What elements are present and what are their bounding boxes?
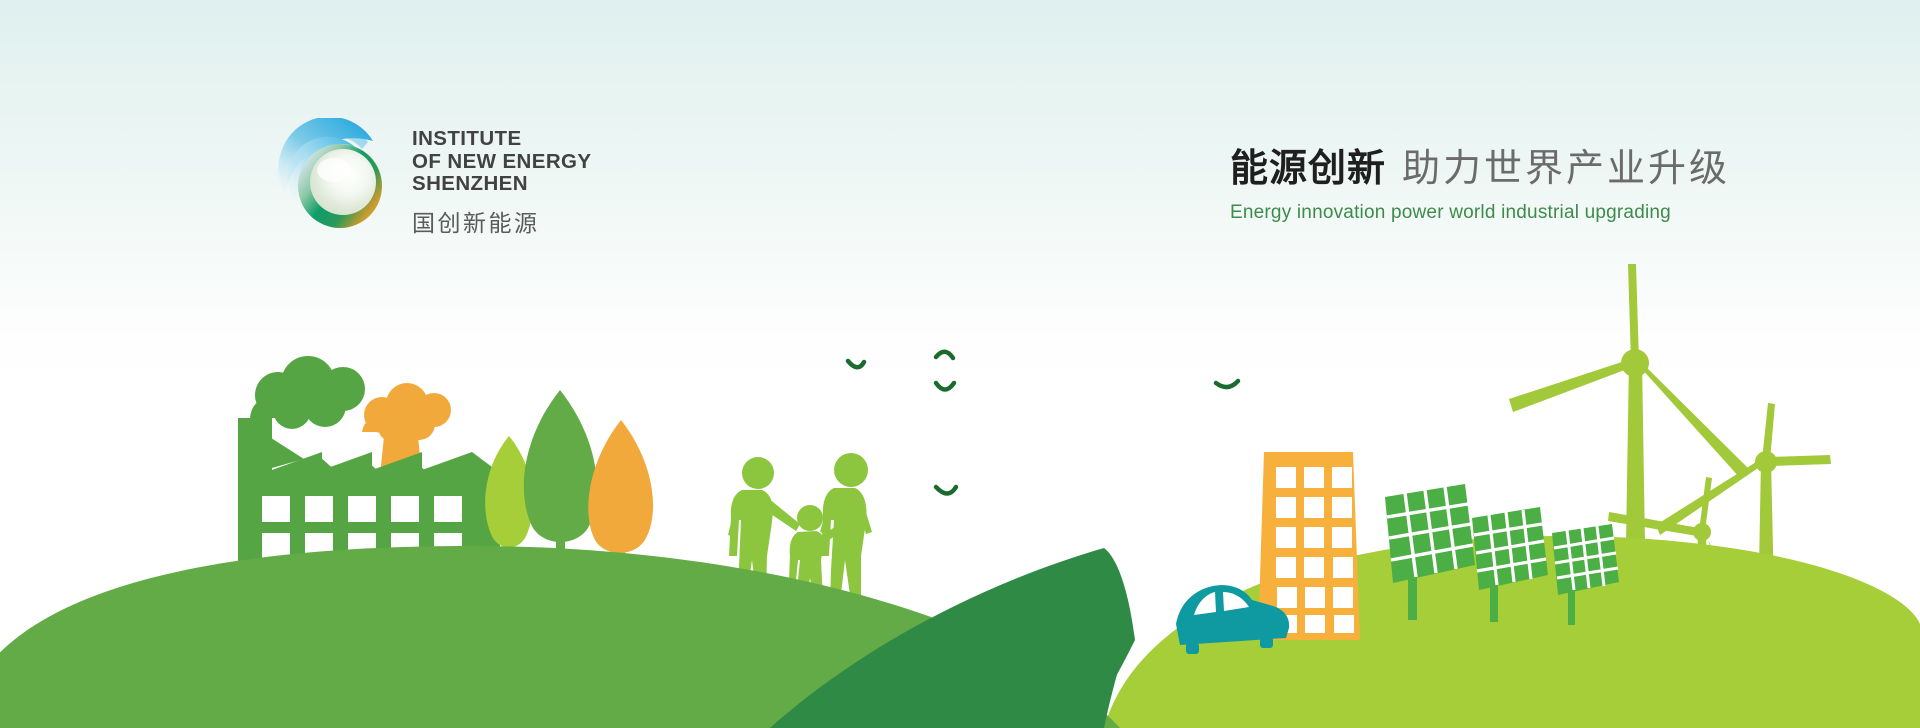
logo-line-3: SHENZHEN — [412, 173, 591, 196]
birds-group — [848, 352, 1238, 494]
factory-group — [238, 356, 500, 568]
logo-chinese-name: 国创新能源 — [412, 204, 591, 238]
brand-logo-block[interactable]: INSTITUTE OF NEW ENERGY SHENZHEN 国创新能源 — [272, 118, 692, 238]
tagline-chinese-light: 助力世界产业升级 — [1402, 148, 1730, 190]
scene-illustration — [0, 0, 1920, 728]
logo-wordmark: INSTITUTE OF NEW ENERGY SHENZHEN 国创新能源 — [412, 128, 591, 238]
bird-4 — [1216, 381, 1238, 387]
tagline-chinese-strong: 能源创新 — [1230, 148, 1386, 190]
bird-5 — [936, 383, 954, 390]
logo-line-2: OF NEW ENERGY — [412, 151, 591, 174]
bird-2 — [936, 352, 953, 358]
tagline-english: Energy innovation power world industrial… — [1230, 202, 1880, 224]
tagline-block: 能源创新助力世界产业升级 Energy innovation power wor… — [1230, 150, 1880, 224]
person-adult-right — [820, 453, 872, 602]
tagline-chinese: 能源创新助力世界产业升级 — [1230, 150, 1880, 188]
bird-3 — [936, 487, 956, 494]
bird-1 — [848, 361, 864, 367]
logo-line-1: INSTITUTE — [412, 128, 591, 151]
ine-sphere-logo-icon — [272, 118, 390, 236]
energy-banner: INSTITUTE OF NEW ENERGY SHENZHEN 国创新能源 能… — [0, 0, 1920, 728]
